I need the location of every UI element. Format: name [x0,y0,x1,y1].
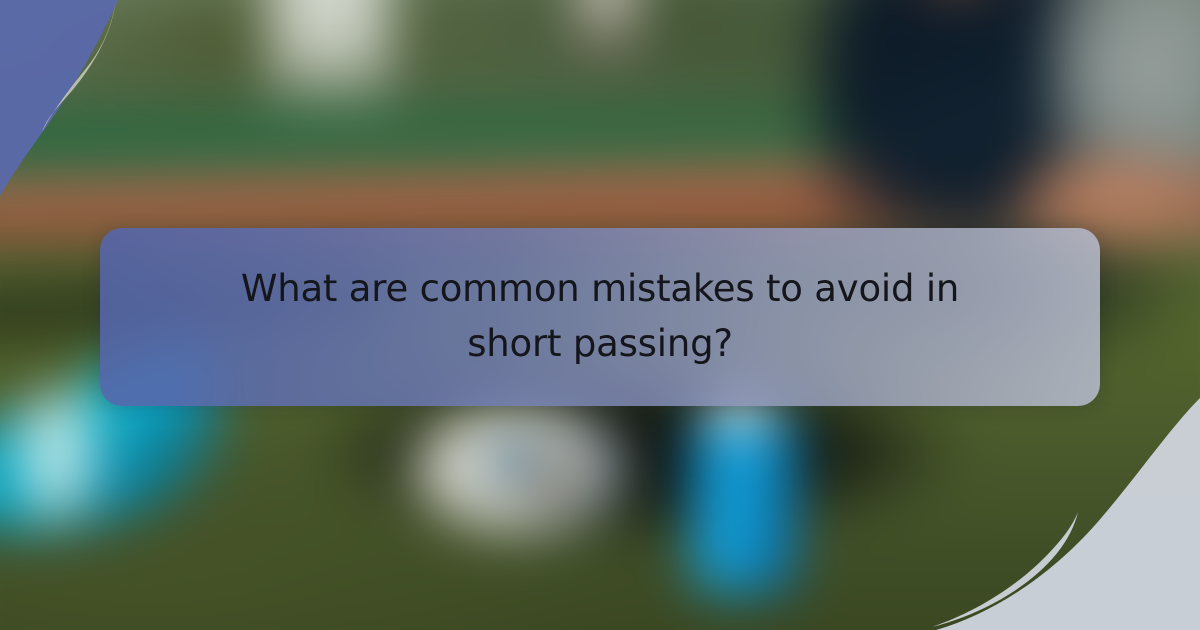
photo-water-bottle [692,413,798,593]
question-text: What are common mistakes to avoid in sho… [210,262,990,372]
photo-camo-pattern [1075,0,1200,165]
question-card: What are common mistakes to avoid in sho… [100,228,1100,406]
photo-ball-panel-brown [521,465,587,503]
share-card-canvas: What are common mistakes to avoid in sho… [0,0,1200,630]
